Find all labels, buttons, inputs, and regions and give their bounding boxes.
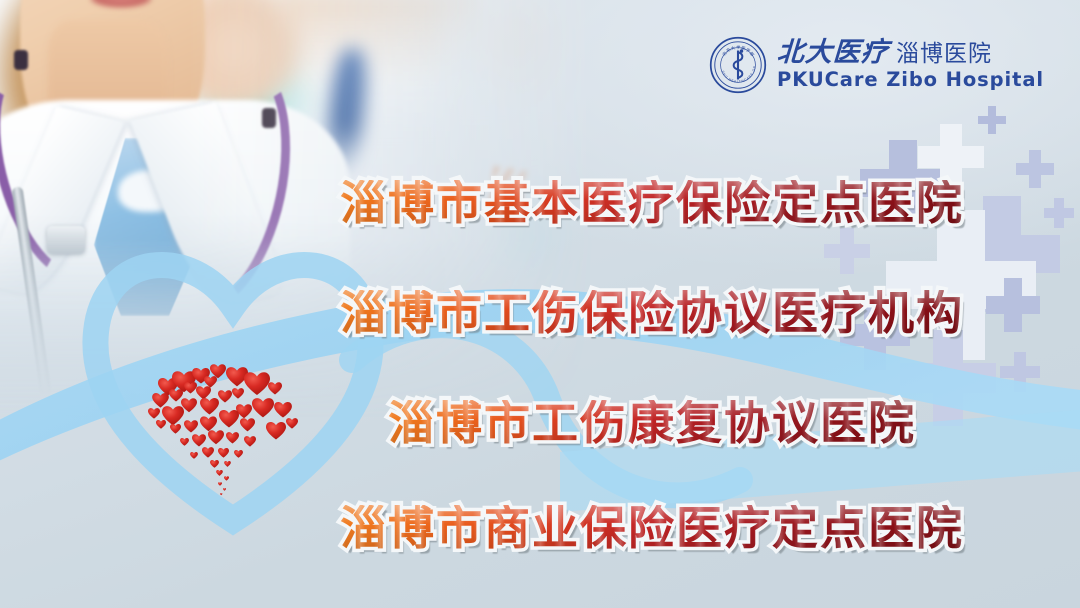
hospital-logo: 北京大学医学部 PKU HEALTHCARE GROUP 北大医疗 淄博医院 P… [709, 36, 1044, 94]
logo-title-en: PKUCare Zibo Hospital [777, 68, 1044, 91]
headline-2-fill: 淄博市工伤保险协议医疗机构 [340, 290, 964, 336]
logo-title-cn: 北大医疗 [776, 39, 889, 66]
headline-4-fill: 淄博市商业保险医疗定点医院 [340, 505, 964, 551]
svg-text:PKU HEALTHCARE GROUP: PKU HEALTHCARE GROUP [709, 36, 756, 83]
headline-1-fill: 淄博市基本医疗保险定点医院 [340, 180, 964, 226]
logo-subtitle-cn: 淄博医院 [896, 43, 992, 66]
headline-3-fill: 淄博市工伤康复协议医院 [388, 400, 916, 446]
hospital-seal-icon: 北京大学医学部 PKU HEALTHCARE GROUP [709, 36, 767, 94]
poster: 北京大学医学部 PKU HEALTHCARE GROUP 北大医疗 淄博医院 P… [0, 0, 1080, 608]
heart-of-hearts-icon [140, 362, 320, 502]
